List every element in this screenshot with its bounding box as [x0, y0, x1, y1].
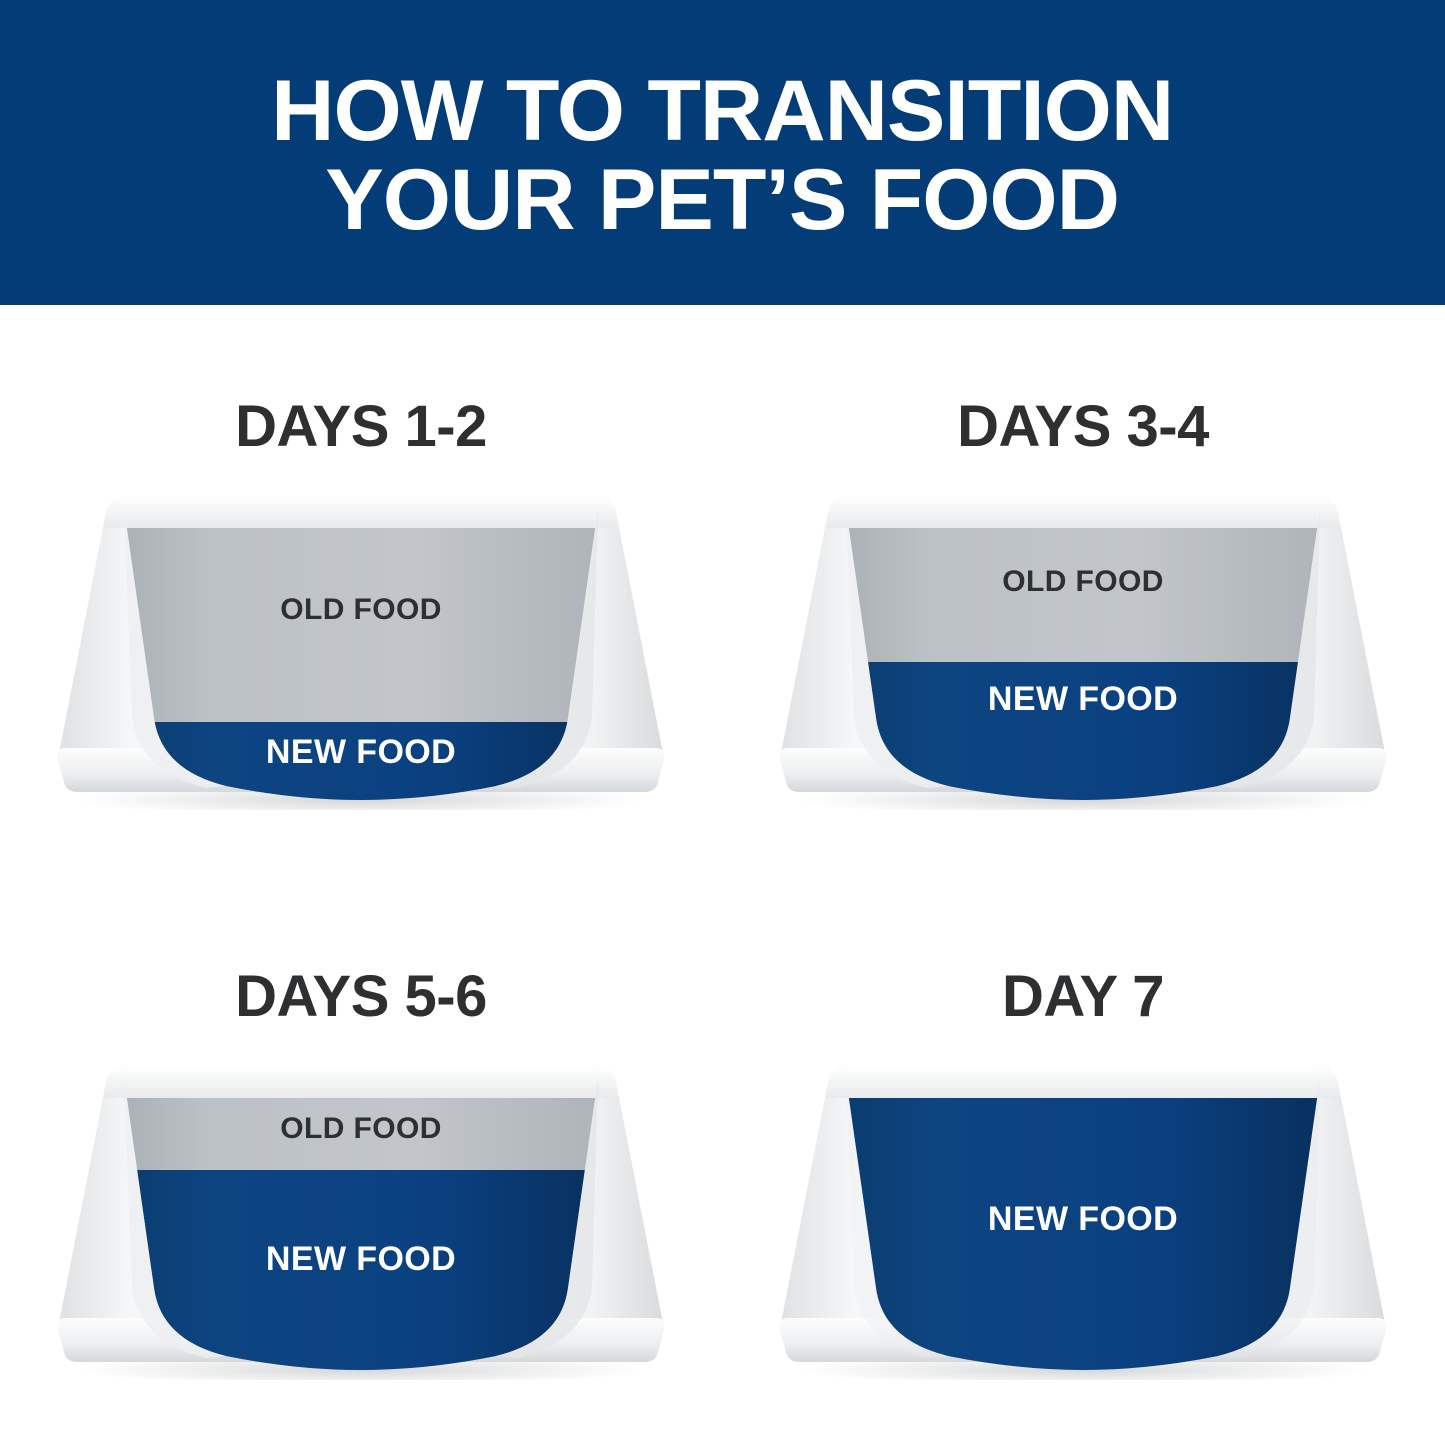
bowl-illustration [56, 490, 666, 810]
food-bowl-0: OLD FOOD NEW FOOD [56, 490, 666, 810]
transition-step-card: DAYS 3-4 [722, 305, 1444, 875]
new-food-fill-3 [838, 1070, 1332, 1380]
food-bowl-2: OLD FOOD NEW FOOD [56, 1060, 666, 1380]
step-label: DAY 7 [722, 963, 1444, 1030]
page-title-line-1: HOW TO TRANSITION [271, 67, 1173, 156]
step-label: DAYS 5-6 [0, 963, 722, 1030]
transition-step-card: DAYS 5-6 [0, 875, 722, 1445]
step-label: DAYS 1-2 [0, 393, 722, 460]
food-bowl-1: OLD FOOD NEW FOOD [778, 490, 1388, 810]
food-bowl-3: NEW FOOD [778, 1060, 1388, 1380]
page-title-line-2: YOUR PET’S FOOD [326, 156, 1120, 245]
transition-steps-grid: DAYS 1-2 [0, 305, 1445, 1445]
step-label: DAYS 3-4 [722, 393, 1444, 460]
header-banner: HOW TO TRANSITION YOUR PET’S FOOD [0, 0, 1445, 305]
transition-step-card: DAYS 1-2 [0, 305, 722, 875]
bowl-illustration [778, 490, 1388, 810]
transition-step-card: DAY 7 [722, 875, 1444, 1445]
bowl-illustration [778, 1060, 1388, 1380]
bowl-illustration [56, 1060, 666, 1380]
